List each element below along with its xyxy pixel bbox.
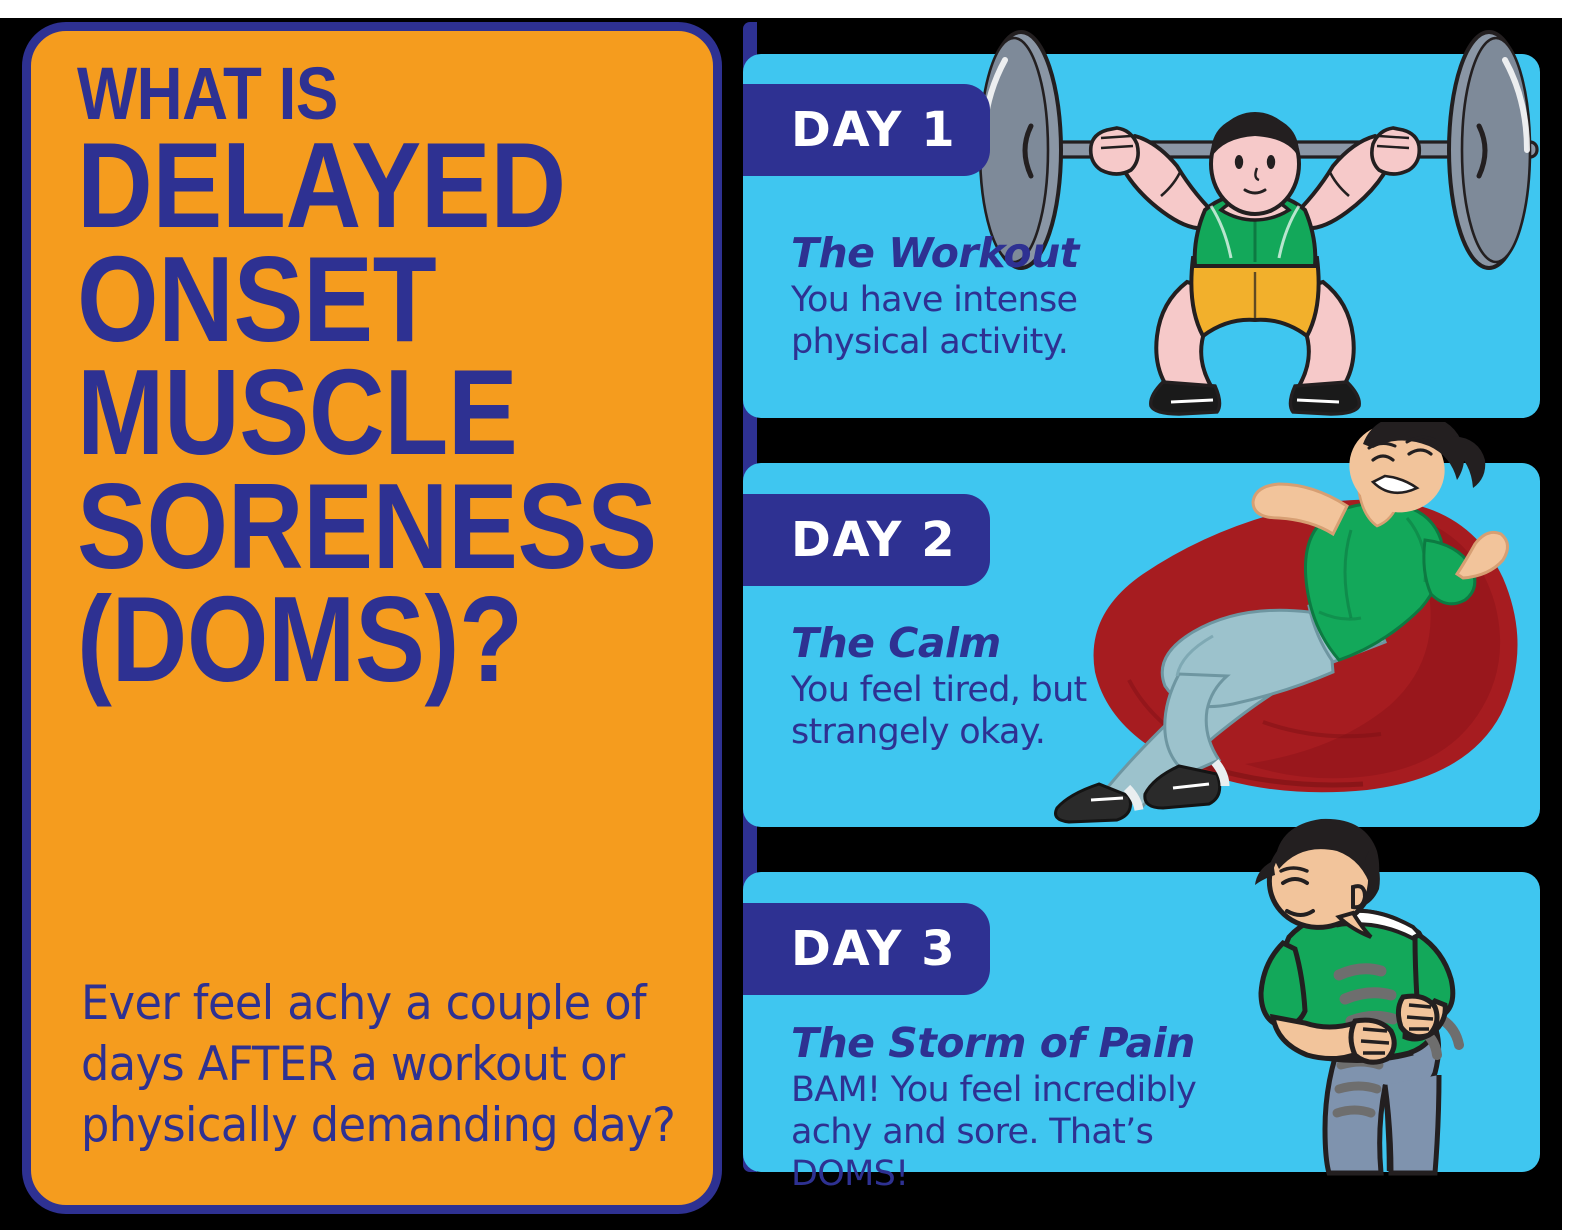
- day-badge-2: DAY 2: [743, 494, 990, 586]
- headline-line-2: DELAYED: [77, 129, 627, 242]
- day-badge-3: DAY 3: [743, 903, 990, 995]
- day-badge-2-label: DAY 2: [791, 512, 956, 568]
- day-badge-1: DAY 1: [743, 84, 990, 176]
- infographic-canvas: WHAT IS DELAYED ONSET MUSCLE SORENESS (D…: [0, 0, 1590, 1230]
- day-badge-1-label: DAY 1: [791, 102, 956, 158]
- card-desc-day-3: BAM! You feel incredibly achy and sore. …: [791, 1069, 1261, 1195]
- timeline-column: DAY 1 The Workout You have intense physi…: [743, 22, 1543, 1214]
- day-badge-3-label: DAY 3: [791, 921, 956, 977]
- page-title: WHAT IS DELAYED ONSET MUSCLE SORENESS (D…: [77, 59, 717, 697]
- card-title-day-3: The Storm of Pain: [791, 1022, 1261, 1065]
- card-text-day-1: The Workout You have intense physical ac…: [791, 232, 1121, 363]
- card-desc-day-2: You feel tired, but strangely okay.: [791, 669, 1121, 753]
- headline-line-4: MUSCLE: [77, 356, 627, 469]
- card-title-day-2: The Calm: [791, 622, 1121, 665]
- card-title-day-1: The Workout: [791, 232, 1121, 275]
- card-desc-day-1: You have intense physical activity.: [791, 279, 1121, 363]
- headline-line-6: (DOMS)?: [77, 583, 627, 696]
- card-text-day-3: The Storm of Pain BAM! You feel incredib…: [791, 1022, 1261, 1195]
- headline-line-3: ONSET: [77, 243, 627, 356]
- lead-paragraph: Ever feel achy a couple of days AFTER a …: [81, 973, 689, 1156]
- title-panel: WHAT IS DELAYED ONSET MUSCLE SORENESS (D…: [22, 22, 722, 1214]
- headline-line-5: SORENESS: [77, 470, 627, 583]
- card-text-day-2: The Calm You feel tired, but strangely o…: [791, 622, 1121, 753]
